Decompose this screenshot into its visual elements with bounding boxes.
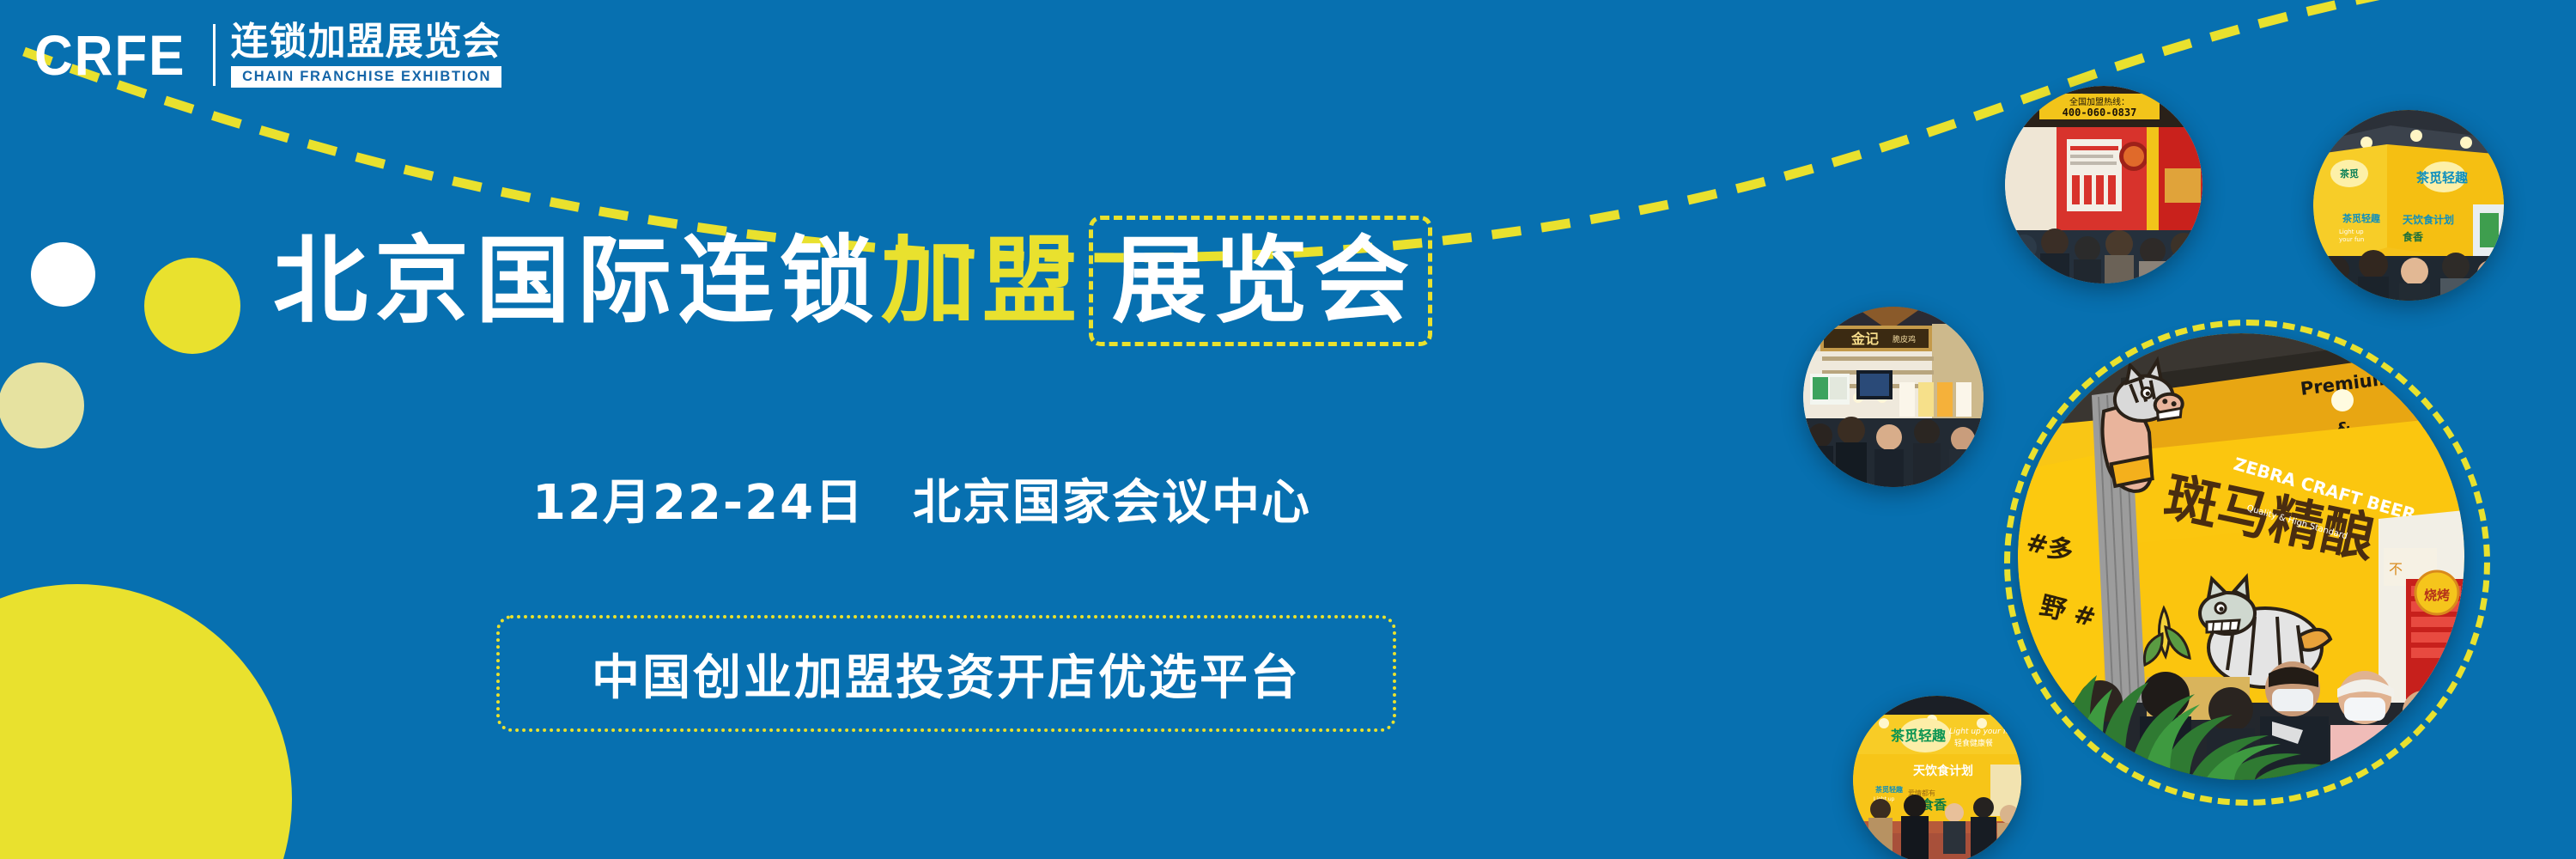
photo-jinji-booth: 金记 脆皮鸡: [1803, 307, 1984, 487]
svg-text:天饮食计划: 天饮食计划: [2403, 213, 2454, 226]
title-part-highlight: 加盟: [881, 216, 1084, 345]
photo-light-fun-booth: 茶觅 茶觅轻趣 茶觅轻趣 Light up your fun 天饮食计划 食香: [2313, 110, 2504, 301]
svg-text:400-060-0837: 400-060-0837: [2063, 107, 2137, 119]
title-part-primary: 北京国际连锁: [273, 216, 881, 345]
svg-text:脆皮鸡: 脆皮鸡: [1893, 334, 1916, 344]
svg-text:Light up: Light up: [2339, 228, 2364, 235]
decor-pale-yellow-circle: [0, 362, 84, 448]
svg-text:天饮食计划: 天饮食计划: [1913, 764, 1973, 778]
svg-text:不: 不: [2389, 561, 2403, 577]
svg-text:茶觅轻趣: 茶觅轻趣: [1874, 785, 1904, 794]
svg-text:轻食健康餐: 轻食健康餐: [1954, 738, 1993, 748]
event-datetime-venue: 12月22-24日北京国家会议中心: [532, 464, 1311, 533]
logo-divider: [213, 24, 216, 86]
page-title: 北京国际连锁 加盟 展览会: [273, 216, 1432, 345]
logo-english-name: CHAIN FRANCHISE EXHIBTION: [231, 66, 501, 88]
brand-logo: CRFE 连锁加盟展览会 CHAIN FRANCHISE EXHIBTION: [34, 19, 501, 91]
logo-text-block: 连锁加盟展览会 CHAIN FRANCHISE EXHIBTION: [231, 19, 501, 91]
svg-text:金记: 金记: [1850, 331, 1879, 347]
svg-text:茶觅轻趣: 茶觅轻趣: [1890, 728, 1947, 744]
title-part-boxed: 展览会: [1089, 216, 1432, 346]
svg-text:your fun: your fun: [2339, 236, 2364, 243]
svg-text:烧烤: 烧烤: [2424, 588, 2450, 603]
tagline-box: 中国创业加盟投资开店优选平台: [496, 615, 1396, 732]
svg-text:茶觅: 茶觅: [2339, 168, 2359, 180]
photo-light-meal-booth: 茶觅轻趣 Light up your fun 轻食健康餐 天饮食计划 爱情都有 …: [1853, 696, 2021, 859]
svg-text:茶觅轻趣: 茶觅轻趣: [2416, 170, 2469, 186]
svg-text:茶觅轻趣: 茶觅轻趣: [2342, 212, 2381, 224]
decor-white-circle: [31, 242, 95, 307]
tagline-text: 中国创业加盟投资开店优选平台: [592, 639, 1301, 709]
decor-large-yellow-circle: [0, 584, 292, 859]
photo-zebra-craft-beer-booth: Premium Quality & High Standard: [2018, 333, 2464, 780]
event-venue: 北京国家会议中心: [913, 475, 1311, 531]
photo-chicken-franchise-booth: 全国加盟热线： 400-060-0837 CHICKEN: [2005, 86, 2202, 283]
svg-text:食香: 食香: [2402, 230, 2423, 243]
svg-text:Light up your fun: Light up your fun: [1949, 728, 2016, 736]
decor-yellow-circle: [144, 258, 240, 354]
logo-chinese-name: 连锁加盟展览会: [231, 22, 501, 62]
crfe-exhibition-banner: CRFE 连锁加盟展览会 CHAIN FRANCHISE EXHIBTION 北…: [0, 0, 2576, 859]
svg-text:CHICKEN: CHICKEN: [2019, 104, 2057, 113]
event-dates: 12月22-24日: [532, 475, 865, 531]
logo-acronym: CRFE: [34, 19, 185, 91]
